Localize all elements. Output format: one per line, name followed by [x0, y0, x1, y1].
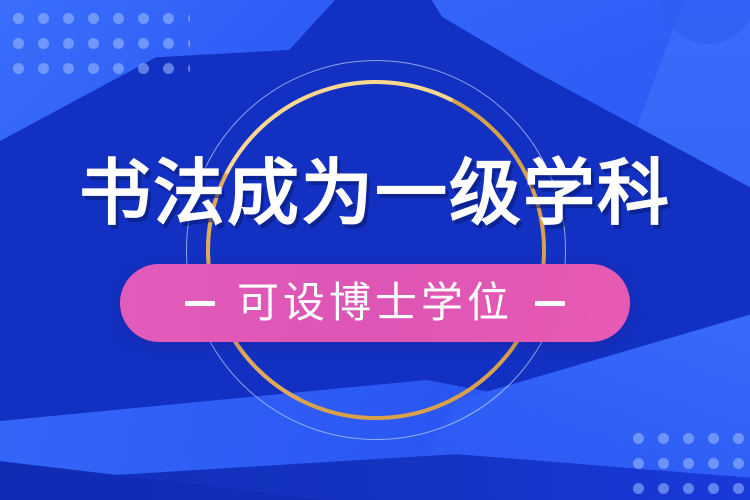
banner-content: 书法成为一级学科 可设博士学位 — [0, 0, 750, 500]
banner-headline: 书法成为一级学科 — [79, 158, 671, 230]
banner-subtitle: 可设博士学位 — [237, 282, 513, 324]
dash-left-icon — [185, 301, 215, 306]
promo-banner: 书法成为一级学科 可设博士学位 — [0, 0, 750, 500]
subtitle-pill: 可设博士学位 — [120, 264, 630, 342]
dash-right-icon — [535, 301, 565, 306]
